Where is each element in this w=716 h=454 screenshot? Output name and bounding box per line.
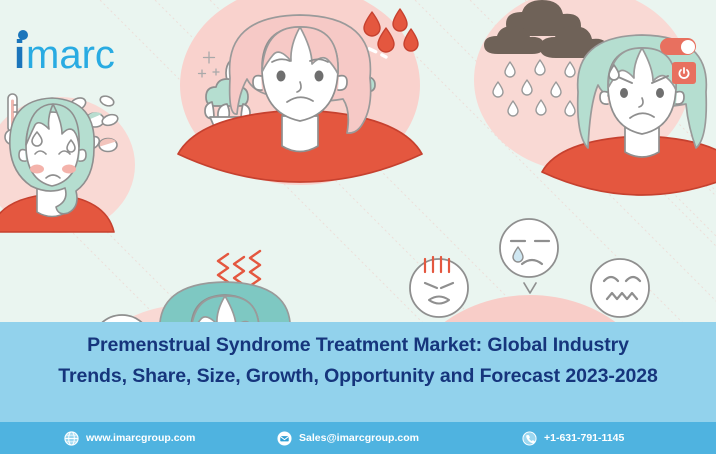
footer-phone[interactable]: +1-631-791-1145 [522,422,624,454]
toggle-knob [681,40,695,54]
sparkle-icon [199,52,220,77]
power-icon [677,66,691,80]
blob-center [180,0,420,185]
anger-marks-icon [425,257,449,272]
raindrop-icon [493,60,591,116]
face [262,27,338,121]
ice-cream-icon [205,79,250,155]
toggle-switch[interactable] [660,38,696,55]
phone-icon [522,431,537,446]
thermometer-icon [5,94,20,145]
sweat-drop-icon [67,140,75,152]
logo-text-i: i [14,33,25,74]
blob-right [474,0,690,172]
logo-text-marc: marc [26,33,115,74]
sweat-drop-icon [32,132,42,146]
pills-icon [67,94,119,152]
footer-email[interactable]: Sales@imarcgroup.com [277,422,419,454]
figure-woman-center [178,9,422,182]
footer-email-label: Sales@imarcgroup.com [299,432,419,444]
imarc-logo[interactable]: i marc [12,26,152,74]
page-title-line-2: Trends, Share, Size, Growth, Opportunity… [0,361,716,392]
footer-phone-label: +1-631-791-1145 [544,432,624,444]
hair [10,98,94,214]
envelope-icon [277,431,292,446]
figure-woman-fever-left [0,94,119,232]
blush-right [62,165,76,174]
marketing-banner: i marc Premenstrual Syndrome Treatment M… [0,0,716,454]
shirt [542,136,716,195]
power-button[interactable] [672,62,696,84]
shirt [178,110,422,182]
moon-icon [226,54,244,92]
figure-woman-angry-right [484,0,716,195]
blood-drop-icon [364,9,418,52]
globe-icon [64,431,79,446]
footer-website-label: www.imarcgroup.com [86,432,195,444]
halo-dashed [236,33,386,57]
footer-bar: www.imarcgroup.com Sales@imarcgroup.com … [0,422,716,454]
page-title-line-1: Premenstrual Syndrome Treatment Market: … [0,330,716,361]
pain-zigzag-icon [218,251,260,306]
sweat-drop-icon [609,65,619,80]
face [26,112,79,186]
hair [230,15,371,133]
emoji-angry [410,257,468,317]
emoji-confused [591,259,649,317]
emoji-crying [500,219,558,277]
sun-cloud-icon [330,56,375,92]
rain-cloud-icon [484,0,608,58]
tear-drop-icon [513,247,523,262]
footer-website[interactable]: www.imarcgroup.com [64,422,195,454]
page-title: Premenstrual Syndrome Treatment Market: … [0,330,716,392]
face [608,48,676,134]
blob-left [0,97,135,233]
blush-left [30,165,44,174]
shirt [0,194,114,232]
